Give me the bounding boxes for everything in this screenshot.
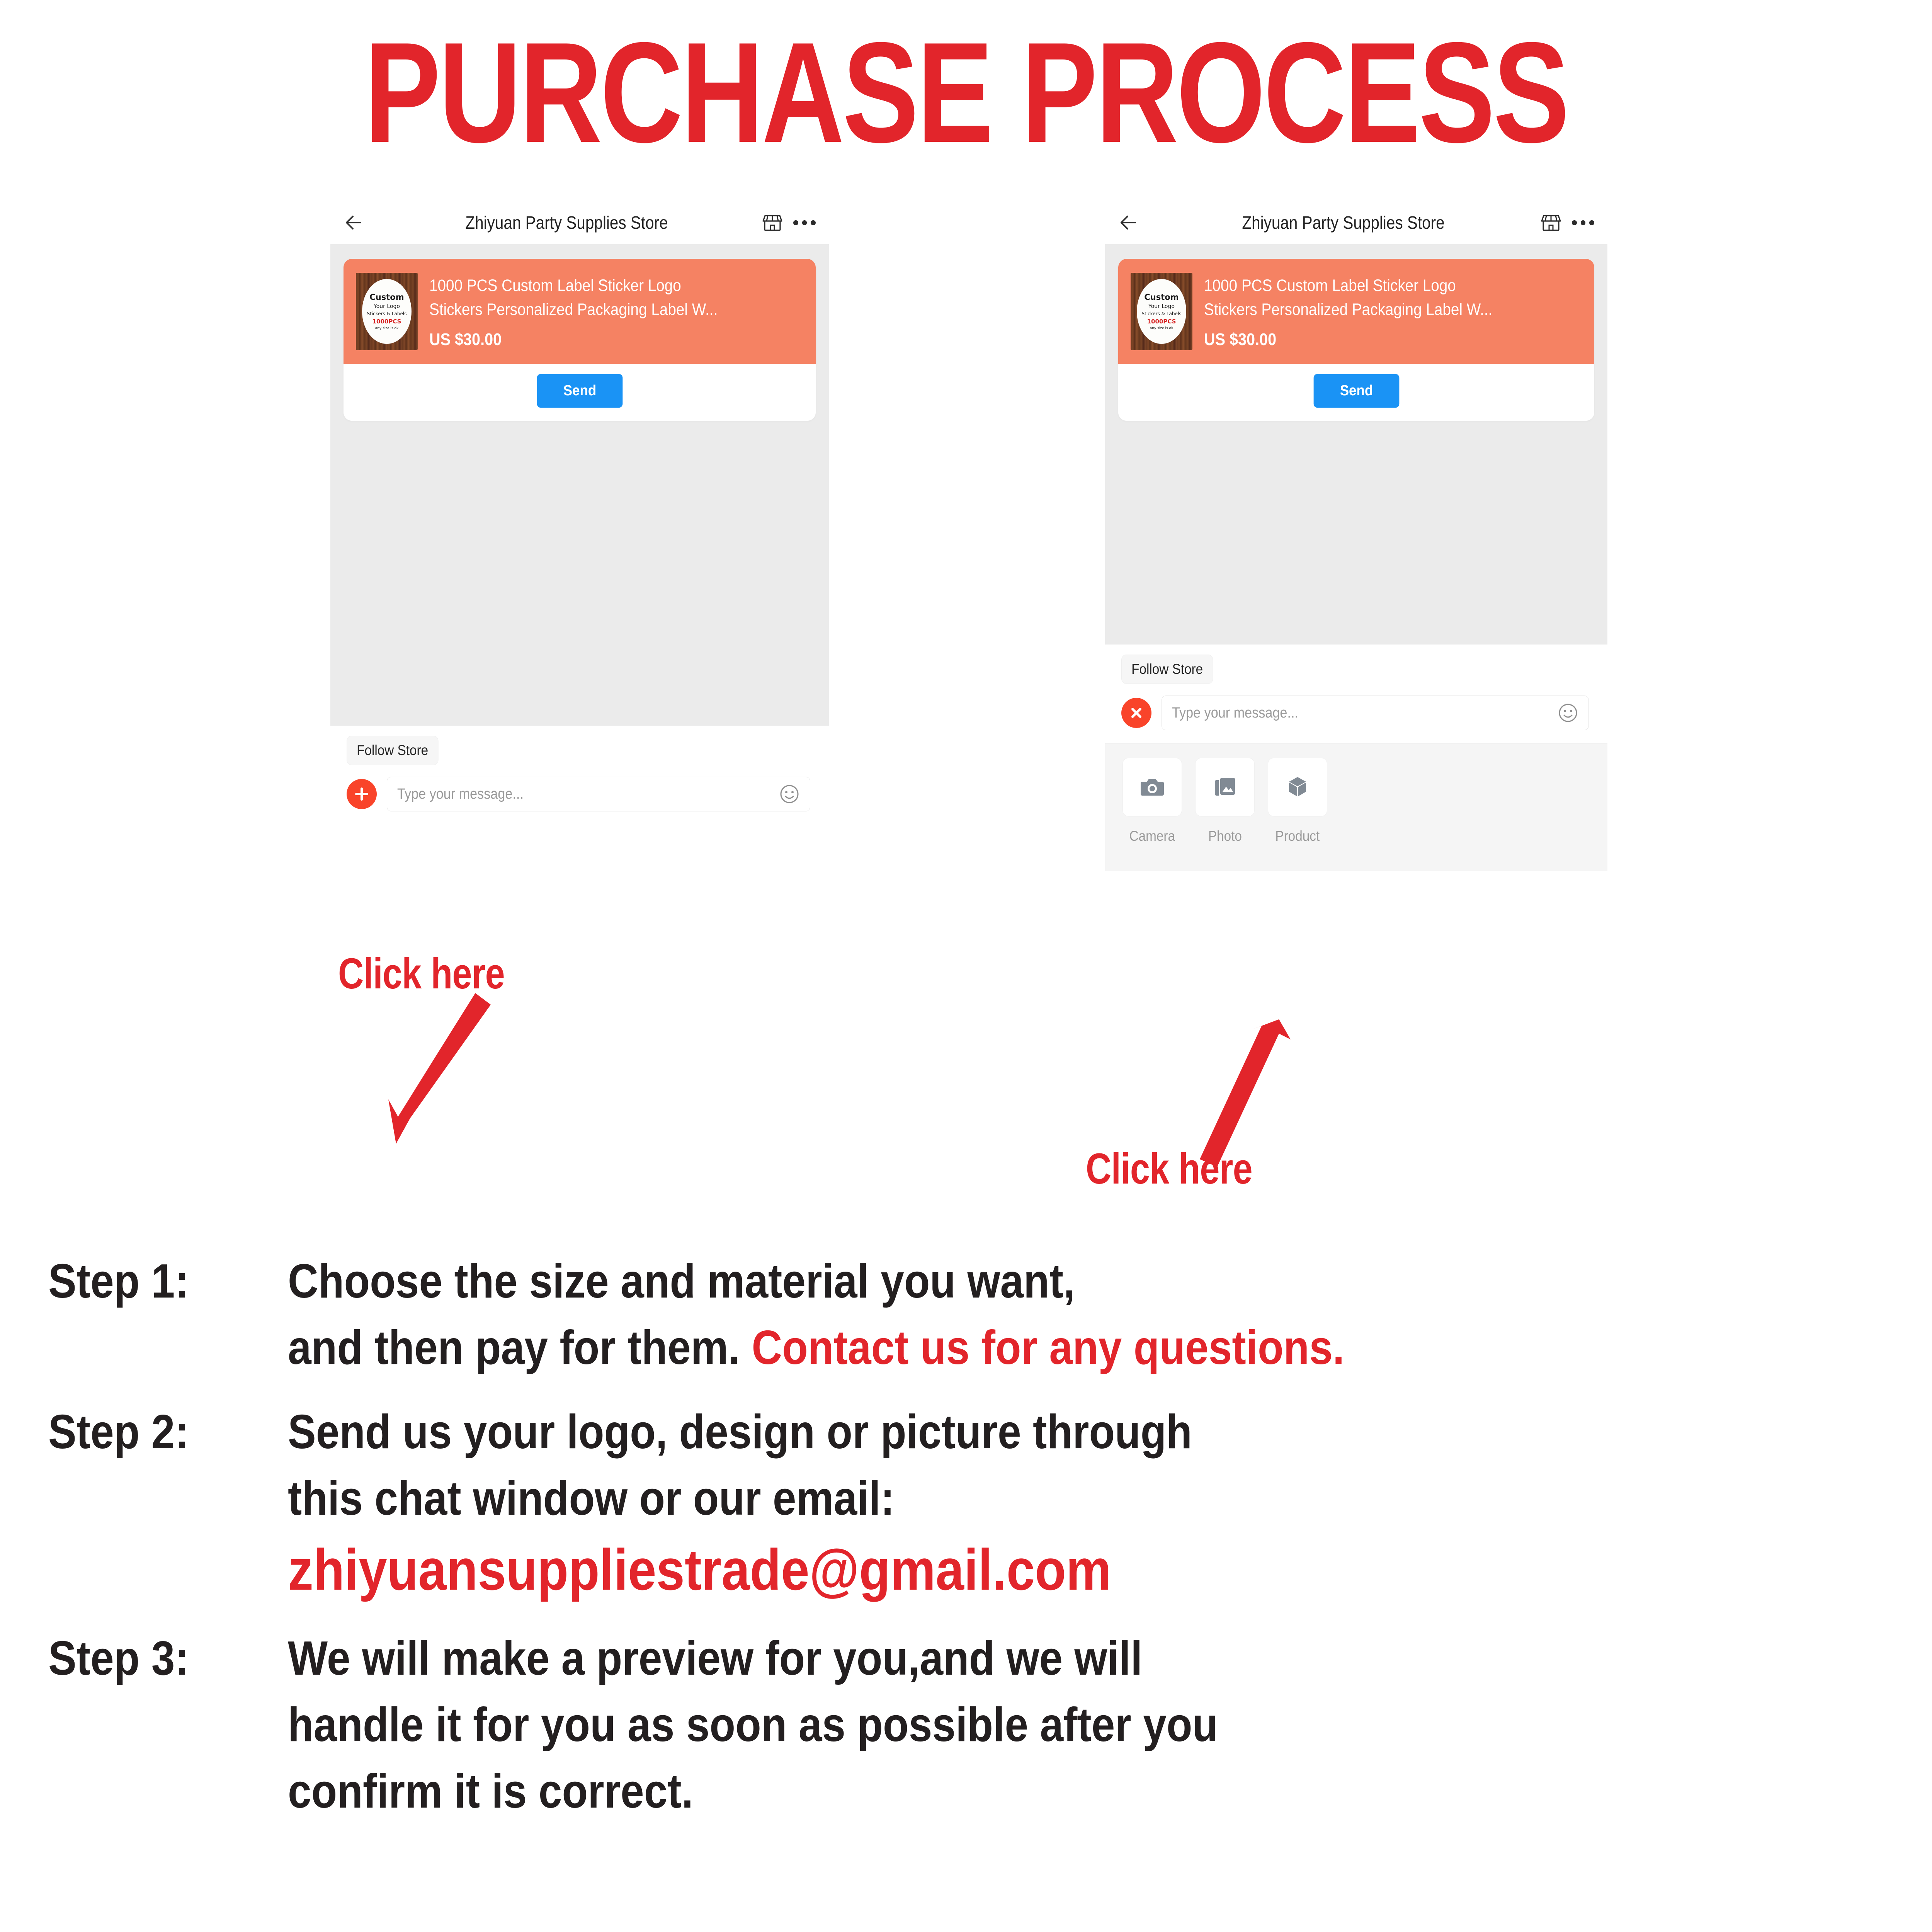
plus-glyph bbox=[353, 786, 370, 803]
product-thumbnail-image: Custom Your Logo Stickers & Labels 1000P… bbox=[1131, 273, 1192, 350]
smiley-icon[interactable] bbox=[1558, 702, 1578, 723]
chat-message-area: Custom Your Logo Stickers & Labels 1000P… bbox=[330, 244, 829, 726]
thumb-line-qty: 1000PCS bbox=[372, 318, 401, 325]
product-price: US $30.00 bbox=[429, 330, 766, 349]
annotation-arrow-1 bbox=[359, 989, 522, 1148]
contact-email[interactable]: zhiyuansuppliestrade@gmail.com bbox=[288, 1532, 1696, 1607]
attachment-camera-label: Camera bbox=[1129, 828, 1175, 844]
thumbnail-label-circle: Custom Your Logo Stickers & Labels 1000P… bbox=[1137, 279, 1186, 344]
step-1-label: Step 1: bbox=[48, 1248, 259, 1315]
product-message-card[interactable]: Custom Your Logo Stickers & Labels 1000P… bbox=[344, 259, 816, 421]
follow-store-row: Follow Store bbox=[1105, 645, 1607, 684]
thumb-line-custom: Custom bbox=[369, 293, 404, 302]
message-placeholder: Type your message... bbox=[397, 786, 741, 803]
step-3-label: Step 3: bbox=[48, 1625, 259, 1692]
store-name-title: Zhiyuan Party Supplies Store bbox=[1162, 212, 1516, 233]
follow-store-button[interactable]: Follow Store bbox=[1121, 655, 1213, 684]
dot bbox=[793, 220, 798, 225]
send-button[interactable]: Send bbox=[537, 374, 622, 408]
product-tile[interactable] bbox=[1268, 758, 1327, 816]
step-2: Step 2: Send us your logo, design or pic… bbox=[48, 1399, 1888, 1607]
product-title-line2: Stickers Personalized Packaging Label W.… bbox=[429, 298, 766, 321]
product-title-line2: Stickers Personalized Packaging Label W.… bbox=[1204, 298, 1544, 321]
product-card-body: Custom Your Logo Stickers & Labels 1000P… bbox=[1118, 259, 1594, 364]
back-arrow-icon[interactable] bbox=[344, 213, 364, 233]
step-1: Step 1: Choose the size and material you… bbox=[48, 1248, 1888, 1381]
dot bbox=[1581, 220, 1586, 225]
message-input[interactable]: Type your message... bbox=[387, 777, 810, 811]
follow-store-button[interactable]: Follow Store bbox=[347, 736, 438, 765]
dot bbox=[1572, 220, 1577, 225]
phone-mockup-step1: Zhiyuan Party Supplies Store Custom Your… bbox=[330, 201, 829, 825]
thumb-line-qty: 1000PCS bbox=[1147, 318, 1176, 325]
plus-icon[interactable] bbox=[347, 779, 377, 809]
more-dots-icon[interactable] bbox=[793, 219, 816, 226]
attachment-product-label: Product bbox=[1276, 828, 1320, 844]
attachment-product[interactable]: Product bbox=[1268, 758, 1327, 844]
camera-tile[interactable] bbox=[1122, 758, 1182, 816]
message-composer: Type your message... bbox=[330, 765, 829, 825]
product-title-line1: 1000 PCS Custom Label Sticker Logo bbox=[1204, 274, 1544, 298]
step-3-line-2: handle it for you as soon as possible af… bbox=[288, 1692, 1696, 1758]
step-2-text: Send us your logo, design or picture thr… bbox=[288, 1399, 1696, 1607]
chat-header: Zhiyuan Party Supplies Store bbox=[330, 201, 829, 244]
thumb-line-yourlogo: Your Logo bbox=[1148, 303, 1175, 310]
product-box-icon bbox=[1284, 774, 1311, 800]
step-1-line-2a: and then pay for them. bbox=[288, 1321, 752, 1374]
message-placeholder: Type your message... bbox=[1172, 705, 1519, 721]
message-composer: Type your message... bbox=[1105, 684, 1607, 743]
storefront-icon[interactable] bbox=[762, 212, 783, 233]
thumb-line-anysize: any size is ok bbox=[375, 327, 399, 330]
product-message-card[interactable]: Custom Your Logo Stickers & Labels 1000P… bbox=[1118, 259, 1594, 421]
product-thumbnail-image: Custom Your Logo Stickers & Labels 1000P… bbox=[356, 273, 418, 350]
step-1-line-2b-red: Contact us for any questions. bbox=[752, 1321, 1344, 1374]
product-card-body: Custom Your Logo Stickers & Labels 1000P… bbox=[344, 259, 816, 364]
step-2-line-2: this chat window or our email: bbox=[288, 1465, 1696, 1532]
camera-icon bbox=[1139, 774, 1165, 800]
thumb-line-stickers: Stickers & Labels bbox=[367, 311, 407, 316]
smiley-icon[interactable] bbox=[779, 784, 800, 804]
step-3: Step 3: We will make a preview for you,a… bbox=[48, 1625, 1888, 1825]
product-card-actions: Send bbox=[344, 364, 816, 421]
attachment-photo[interactable]: Photo bbox=[1196, 758, 1254, 844]
step-3-line-1: We will make a preview for you,and we wi… bbox=[288, 1625, 1696, 1692]
product-details: 1000 PCS Custom Label Sticker Logo Stick… bbox=[418, 273, 803, 350]
thumb-line-anysize: any size is ok bbox=[1150, 327, 1173, 330]
product-title-line1: 1000 PCS Custom Label Sticker Logo bbox=[429, 274, 766, 298]
product-price: US $30.00 bbox=[1204, 330, 1544, 349]
close-x-glyph bbox=[1128, 704, 1145, 721]
step-2-label: Step 2: bbox=[48, 1399, 259, 1465]
dot bbox=[1589, 220, 1594, 225]
product-card-actions: Send bbox=[1118, 364, 1594, 421]
follow-store-row: Follow Store bbox=[330, 726, 829, 765]
dot bbox=[811, 220, 816, 225]
steps-list: Step 1: Choose the size and material you… bbox=[48, 1248, 1888, 1842]
page-title: PURCHASE PROCESS bbox=[193, 19, 1739, 166]
attachment-camera[interactable]: Camera bbox=[1123, 758, 1182, 844]
step-3-line-3: confirm it is correct. bbox=[288, 1758, 1696, 1825]
chat-message-area: Custom Your Logo Stickers & Labels 1000P… bbox=[1105, 244, 1607, 645]
photo-icon bbox=[1212, 774, 1238, 800]
thumb-line-stickers: Stickers & Labels bbox=[1142, 311, 1182, 316]
close-x-icon[interactable] bbox=[1121, 698, 1151, 728]
back-arrow-icon[interactable] bbox=[1118, 213, 1138, 233]
send-button[interactable]: Send bbox=[1313, 374, 1399, 408]
step-1-line-1: Choose the size and material you want, bbox=[288, 1248, 1696, 1315]
store-name-title: Zhiyuan Party Supplies Store bbox=[388, 212, 738, 233]
phone-mockup-step2: Zhiyuan Party Supplies Store Custom Your… bbox=[1105, 201, 1607, 871]
thumb-line-yourlogo: Your Logo bbox=[374, 303, 400, 310]
chat-header: Zhiyuan Party Supplies Store bbox=[1105, 201, 1607, 244]
product-details: 1000 PCS Custom Label Sticker Logo Stick… bbox=[1192, 273, 1582, 350]
more-dots-icon[interactable] bbox=[1572, 219, 1594, 226]
message-input[interactable]: Type your message... bbox=[1162, 696, 1589, 730]
step-2-line-1: Send us your logo, design or picture thr… bbox=[288, 1399, 1696, 1465]
step-1-line-2: and then pay for them. Contact us for an… bbox=[288, 1315, 1696, 1381]
storefront-icon[interactable] bbox=[1540, 212, 1562, 233]
photo-tile[interactable] bbox=[1195, 758, 1255, 816]
annotation-arrow-2 bbox=[1163, 1016, 1310, 1171]
attachment-options: Camera Photo bbox=[1105, 758, 1607, 844]
step-3-text: We will make a preview for you,and we wi… bbox=[288, 1625, 1696, 1825]
attachment-tray: Camera Photo bbox=[1105, 743, 1607, 871]
step-1-text: Choose the size and material you want, a… bbox=[288, 1248, 1696, 1381]
dot bbox=[802, 220, 807, 225]
thumb-line-custom: Custom bbox=[1144, 293, 1179, 302]
attachment-photo-label: Photo bbox=[1208, 828, 1242, 844]
thumbnail-label-circle: Custom Your Logo Stickers & Labels 1000P… bbox=[362, 279, 412, 344]
